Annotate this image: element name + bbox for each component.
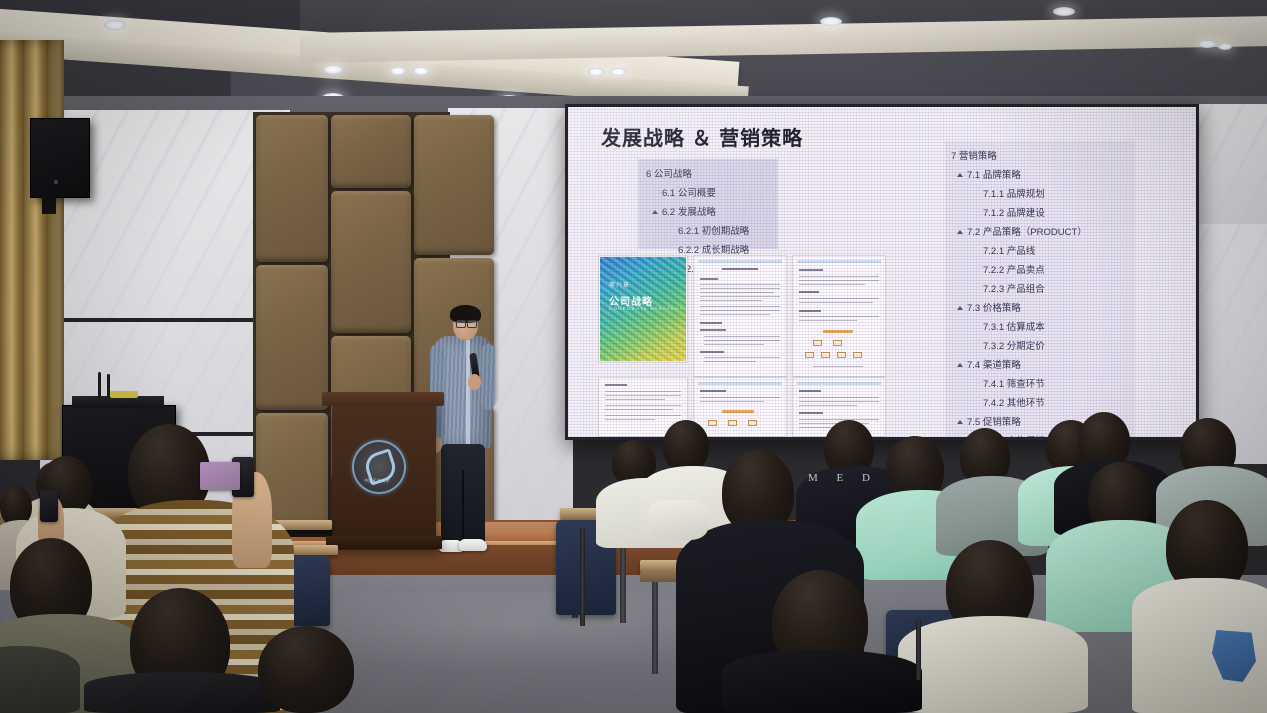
outline-item: 6.2 发展战略 [662,203,749,222]
outline-item: 7.2.3 产品组合 [983,280,1087,299]
page-text-line [799,316,879,317]
downlight-icon [104,20,126,30]
downlight-icon [1198,40,1216,48]
phone-held[interactable] [40,490,58,522]
outline-item: 7.2 产品策略（PRODUCT） [967,223,1087,242]
page-text-line [799,280,879,281]
wall-pad [256,265,328,410]
page-text-line [799,276,879,277]
cover-chapter: 第六章 [609,280,630,289]
downlight-icon [820,17,842,26]
page-text-line [704,344,764,345]
page-text-line [799,419,879,420]
audience-head [258,626,354,713]
audience-arm [648,500,708,540]
document-page [693,255,787,377]
page-text-line [700,314,770,315]
outline-text: 7.3.1 估算成本 [983,322,1045,333]
equipment-pole [916,620,921,680]
presenter-hand [468,374,481,390]
collapse-triangle-icon [957,306,963,310]
page-heading [700,329,726,331]
downlight-icon [390,67,406,75]
led-display-wall[interactable]: 发展战略 ＆ 营销策略 6 公司战略 6.1 公司概要 6.2 发展战略 6.2… [565,104,1199,440]
presenter-leg-seam [462,470,464,548]
page-text-line [813,366,863,367]
outline-text: 7.4.1 筛查环节 [983,379,1045,390]
outline-text: 7.3 价格策略 [967,303,1021,314]
presenter-shoe-right [459,539,487,551]
outline-item: 7.4 渠道策略 [967,356,1087,375]
page-text-line [704,357,780,358]
diagram-node [813,340,822,346]
speaker-led-icon [54,180,58,184]
av-indicator-panel [110,391,138,398]
page-text-line [605,395,681,396]
page-text-line [700,300,762,301]
page-heading [799,390,821,392]
downlight-icon [588,68,604,76]
outline-item: 6.1 公司概要 [662,184,749,203]
page-heading [700,351,724,353]
outline-item: 6 公司战略 [646,165,749,184]
document-page [693,377,787,437]
audience-torso [722,650,922,713]
outline-item: 7.4.2 其他环节 [983,394,1087,413]
page-heading [799,310,821,312]
audience-head [663,420,709,472]
outline-text: 7.1 品牌策略 [967,170,1021,181]
page-heading [700,322,722,324]
wall-pad [331,191,411,333]
document-cover-page: 第六章 公司战略 CORPORATE STRATEGY [598,255,688,363]
page-text-line [605,415,681,416]
outline-item: 7 营销策略 [951,147,1087,166]
outline-item: 7.3.2 分期定价 [983,337,1087,356]
page-heading [799,412,823,414]
outline-text: 7.1.2 品牌建设 [983,208,1045,219]
presentation-slide: 发展战略 ＆ 营销策略 6 公司战略 6.1 公司概要 6.2 发展战略 6.2… [568,107,1196,437]
page-heading [722,268,758,270]
outline-text: 7.2.3 产品组合 [983,284,1045,295]
outline-item: 6.2.1 初创期战略 [678,222,749,241]
page-text-line [799,302,873,303]
page-text-line [700,296,780,297]
audience-torso [898,616,1088,713]
diagram-node [823,330,853,333]
page-text-line [700,401,764,402]
collapse-triangle-icon [957,420,963,424]
outline-text: 6.1 公司概要 [662,188,716,199]
audience-torso [84,672,280,713]
outline-item: 7.3 价格策略 [967,299,1087,318]
page-text-line [704,361,756,362]
slide-title: 发展战略 ＆ 营销策略 [601,122,803,151]
outline-text: 7.2 产品策略（PRODUCT） [967,227,1087,238]
outline-text: 6.2.1 初创期战略 [678,226,749,237]
speaker-bracket [42,196,56,214]
outline-item: 7.2.2 产品卖点 [983,261,1087,280]
diagram-node [833,340,842,346]
outline-item: 7.2.1 产品线 [983,242,1087,261]
page-text-line [605,419,655,420]
page-text-line [700,288,780,289]
outline-right-column: 7 营销策略 7.1 品牌策略 7.1.1 品牌规划 7.1.2 品牌建设 7.… [951,147,1087,437]
wall-pad [414,115,494,255]
wall-pad [256,115,328,262]
collapse-triangle-icon [957,230,963,234]
wall-speaker [30,118,90,198]
desk-leg [652,582,658,674]
page-heading [605,384,627,386]
page-text-line [799,401,879,402]
page-header-band [797,260,881,263]
downlight-icon [413,67,429,75]
page-text-line [700,310,780,311]
page-heading [700,390,726,392]
page-text-line [700,284,780,285]
outline-item: 7.3.1 估算成本 [983,318,1087,337]
presenter-arm-right [481,344,495,410]
page-text-line [605,399,665,400]
outline-item: 7.1.2 品牌建设 [983,204,1087,223]
diagram-node [821,352,830,358]
emblem-label: 中国矿业大学 [356,478,398,484]
downlight-icon [1218,43,1232,50]
page-header-band [698,382,782,385]
screen-surface: 发展战略 ＆ 营销策略 6 公司战略 6.1 公司概要 6.2 发展战略 6.2… [568,107,1196,437]
wall-pad [331,115,411,188]
downlight-icon [610,68,626,76]
outline-text: 7 营销策略 [951,151,997,162]
document-thumbnail-grid: 第六章 公司战略 CORPORATE STRATEGY [598,255,918,435]
diagram-node [805,352,814,358]
page-text-line [799,405,857,406]
shirt-print-label: M E D [808,472,898,484]
document-page [792,255,886,377]
audience-torso [0,646,80,713]
page-text-line [799,320,857,321]
page-text-line [799,298,879,299]
outline-item: 7.1.1 品牌规划 [983,185,1087,204]
diagram-node [708,420,717,426]
window-curtain [0,40,64,460]
student-chair [290,556,330,626]
eyeglasses-icon [456,320,466,328]
page-text-line [704,336,780,337]
lecture-hall-scene: 发展战略 ＆ 营销策略 6 公司战略 6.1 公司概要 6.2 发展战略 6.2… [0,0,1267,713]
phone-screen-glow [200,462,240,490]
page-text-line [799,284,865,285]
lectern-top [322,392,444,406]
page-text-line [605,409,673,410]
eyeglasses-icon [467,320,477,328]
page-heading [799,269,823,271]
collapse-triangle-icon [957,363,963,367]
page-text-line [700,397,780,398]
collapse-triangle-icon [652,210,658,214]
equipment-pole [580,528,585,626]
diagram-node [722,410,754,413]
page-header-band [698,260,782,263]
page-text-line [700,292,774,293]
page-text-line [704,340,780,341]
outline-text: 7.4.2 其他环节 [983,398,1045,409]
page-text-line [799,397,879,398]
diagram-node [748,420,757,426]
outline-text: 7.2.1 产品线 [983,246,1035,257]
outline-text: 7.4 渠道策略 [967,360,1021,371]
page-text-line [605,405,681,406]
outline-item: 7.4.1 筛查环节 [983,375,1087,394]
outline-text: 7.1.1 品牌规划 [983,189,1045,200]
outline-text: 7.5 促销策略 [967,417,1021,428]
outline-item: 7.1 品牌策略 [967,166,1087,185]
diagram-node [853,352,862,358]
diagram-node [728,420,737,426]
downlight-icon [1053,7,1075,16]
page-text-line [700,306,780,307]
page-heading [700,278,718,280]
cover-subheading: CORPORATE STRATEGY [609,306,684,311]
page-header-band [797,382,881,385]
outline-text: 6 公司战略 [646,169,692,180]
outline-text: 7.3.2 分期定价 [983,341,1045,352]
diagram-node [837,352,846,358]
outline-text: 7.2.2 产品卖点 [983,265,1045,276]
downlight-icon [323,65,343,74]
collapse-triangle-icon [957,173,963,177]
page-heading [799,291,819,293]
lectern-base [326,536,442,549]
outline-text: 6.2 发展战略 [662,207,716,218]
antenna-icon [98,372,101,398]
page-text-line [605,391,681,392]
